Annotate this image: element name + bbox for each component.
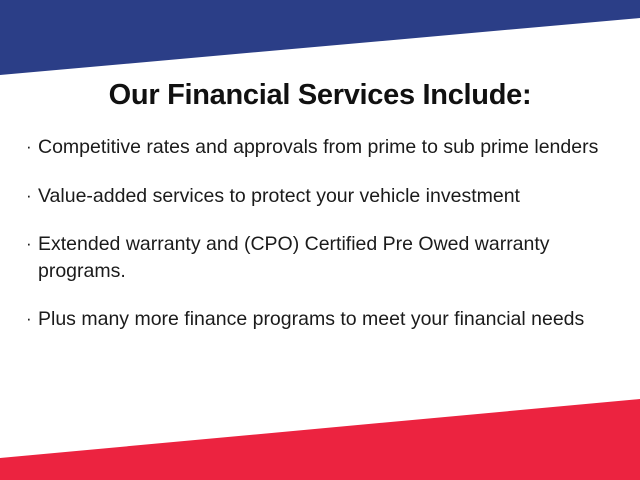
bullet-point-icon: · bbox=[26, 306, 38, 333]
financial-services-list: · Competitive rates and approvals from p… bbox=[26, 134, 618, 333]
list-item: · Extended warranty and (CPO) Certified … bbox=[26, 231, 618, 284]
bullet-point-icon: · bbox=[26, 183, 38, 210]
list-item: · Value-added services to protect your v… bbox=[26, 183, 618, 210]
bullet-point-icon: · bbox=[26, 231, 38, 258]
blue-angled-band bbox=[0, 0, 640, 80]
list-item-label: Plus many more finance programs to meet … bbox=[38, 306, 613, 333]
presentation-slide: Our Financial Services Include: · Compet… bbox=[0, 0, 640, 480]
red-angled-band bbox=[0, 392, 640, 480]
page-title: Our Financial Services Include: bbox=[0, 78, 640, 112]
list-item-label: Competitive rates and approvals from pri… bbox=[38, 134, 613, 161]
bullet-point-icon: · bbox=[26, 134, 38, 161]
list-item: · Plus many more finance programs to mee… bbox=[26, 306, 618, 333]
list-item-label: Value-added services to protect your veh… bbox=[38, 183, 613, 210]
list-item: · Competitive rates and approvals from p… bbox=[26, 134, 618, 161]
list-item-label: Extended warranty and (CPO) Certified Pr… bbox=[38, 231, 613, 284]
